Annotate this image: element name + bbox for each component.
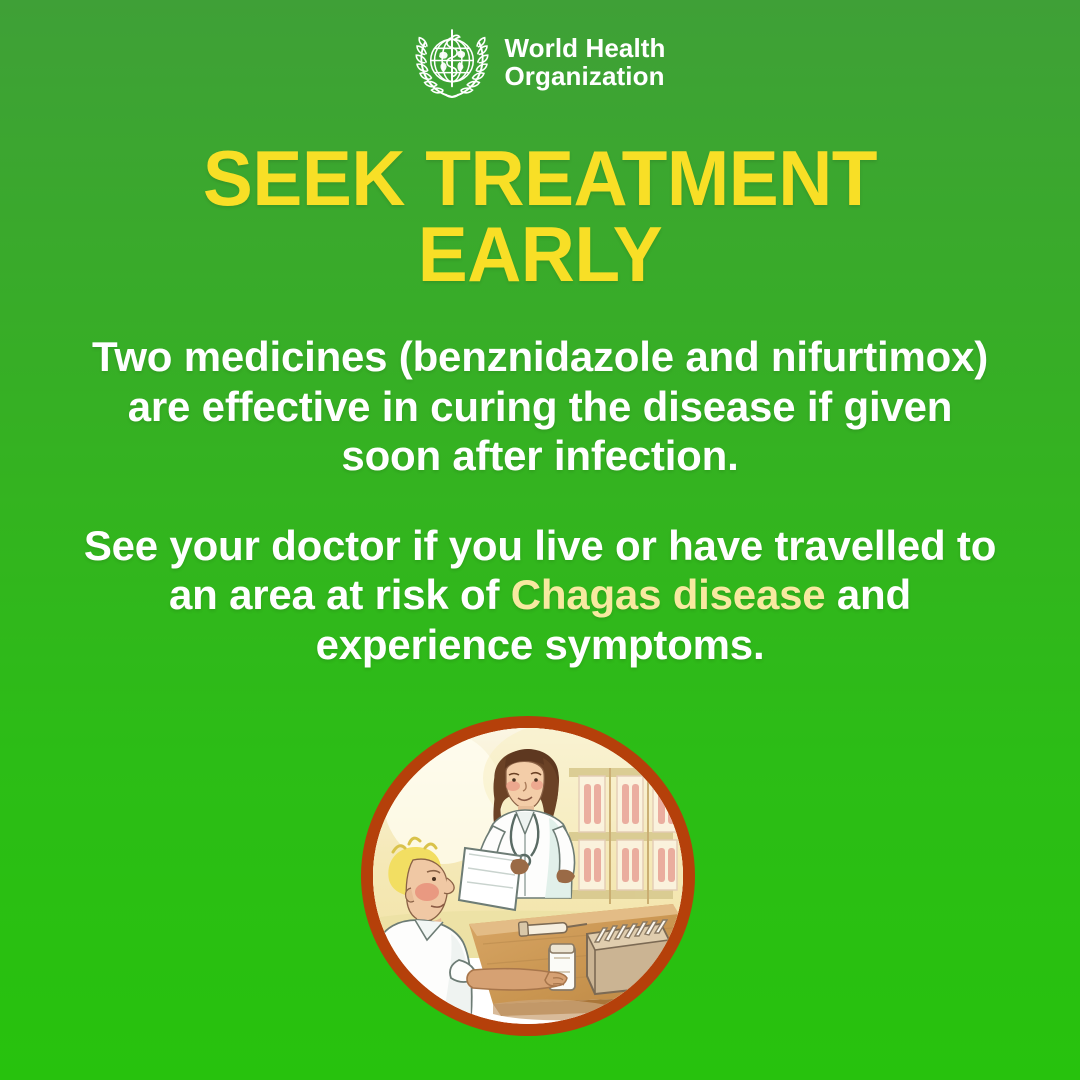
page-title: SEEK TREATMENT EARLY <box>22 140 1059 293</box>
body-copy: Two medicines (benznidazole and nifurtim… <box>0 332 1080 669</box>
paragraph-medicines: Two medicines (benznidazole and nifurtim… <box>82 332 998 481</box>
clinic-consultation-illustration <box>373 728 683 1024</box>
paragraph-see-doctor: See your doctor if you live or have trav… <box>82 521 998 670</box>
who-wordmark: World Health Organization <box>504 34 665 90</box>
illustration-circle <box>361 716 695 1036</box>
illustration-image-clip <box>373 728 683 1024</box>
who-logo-lockup: World Health Organization <box>0 22 1080 102</box>
who-emblem-icon <box>414 22 490 102</box>
chagas-disease-highlight: Chagas disease <box>511 571 826 618</box>
